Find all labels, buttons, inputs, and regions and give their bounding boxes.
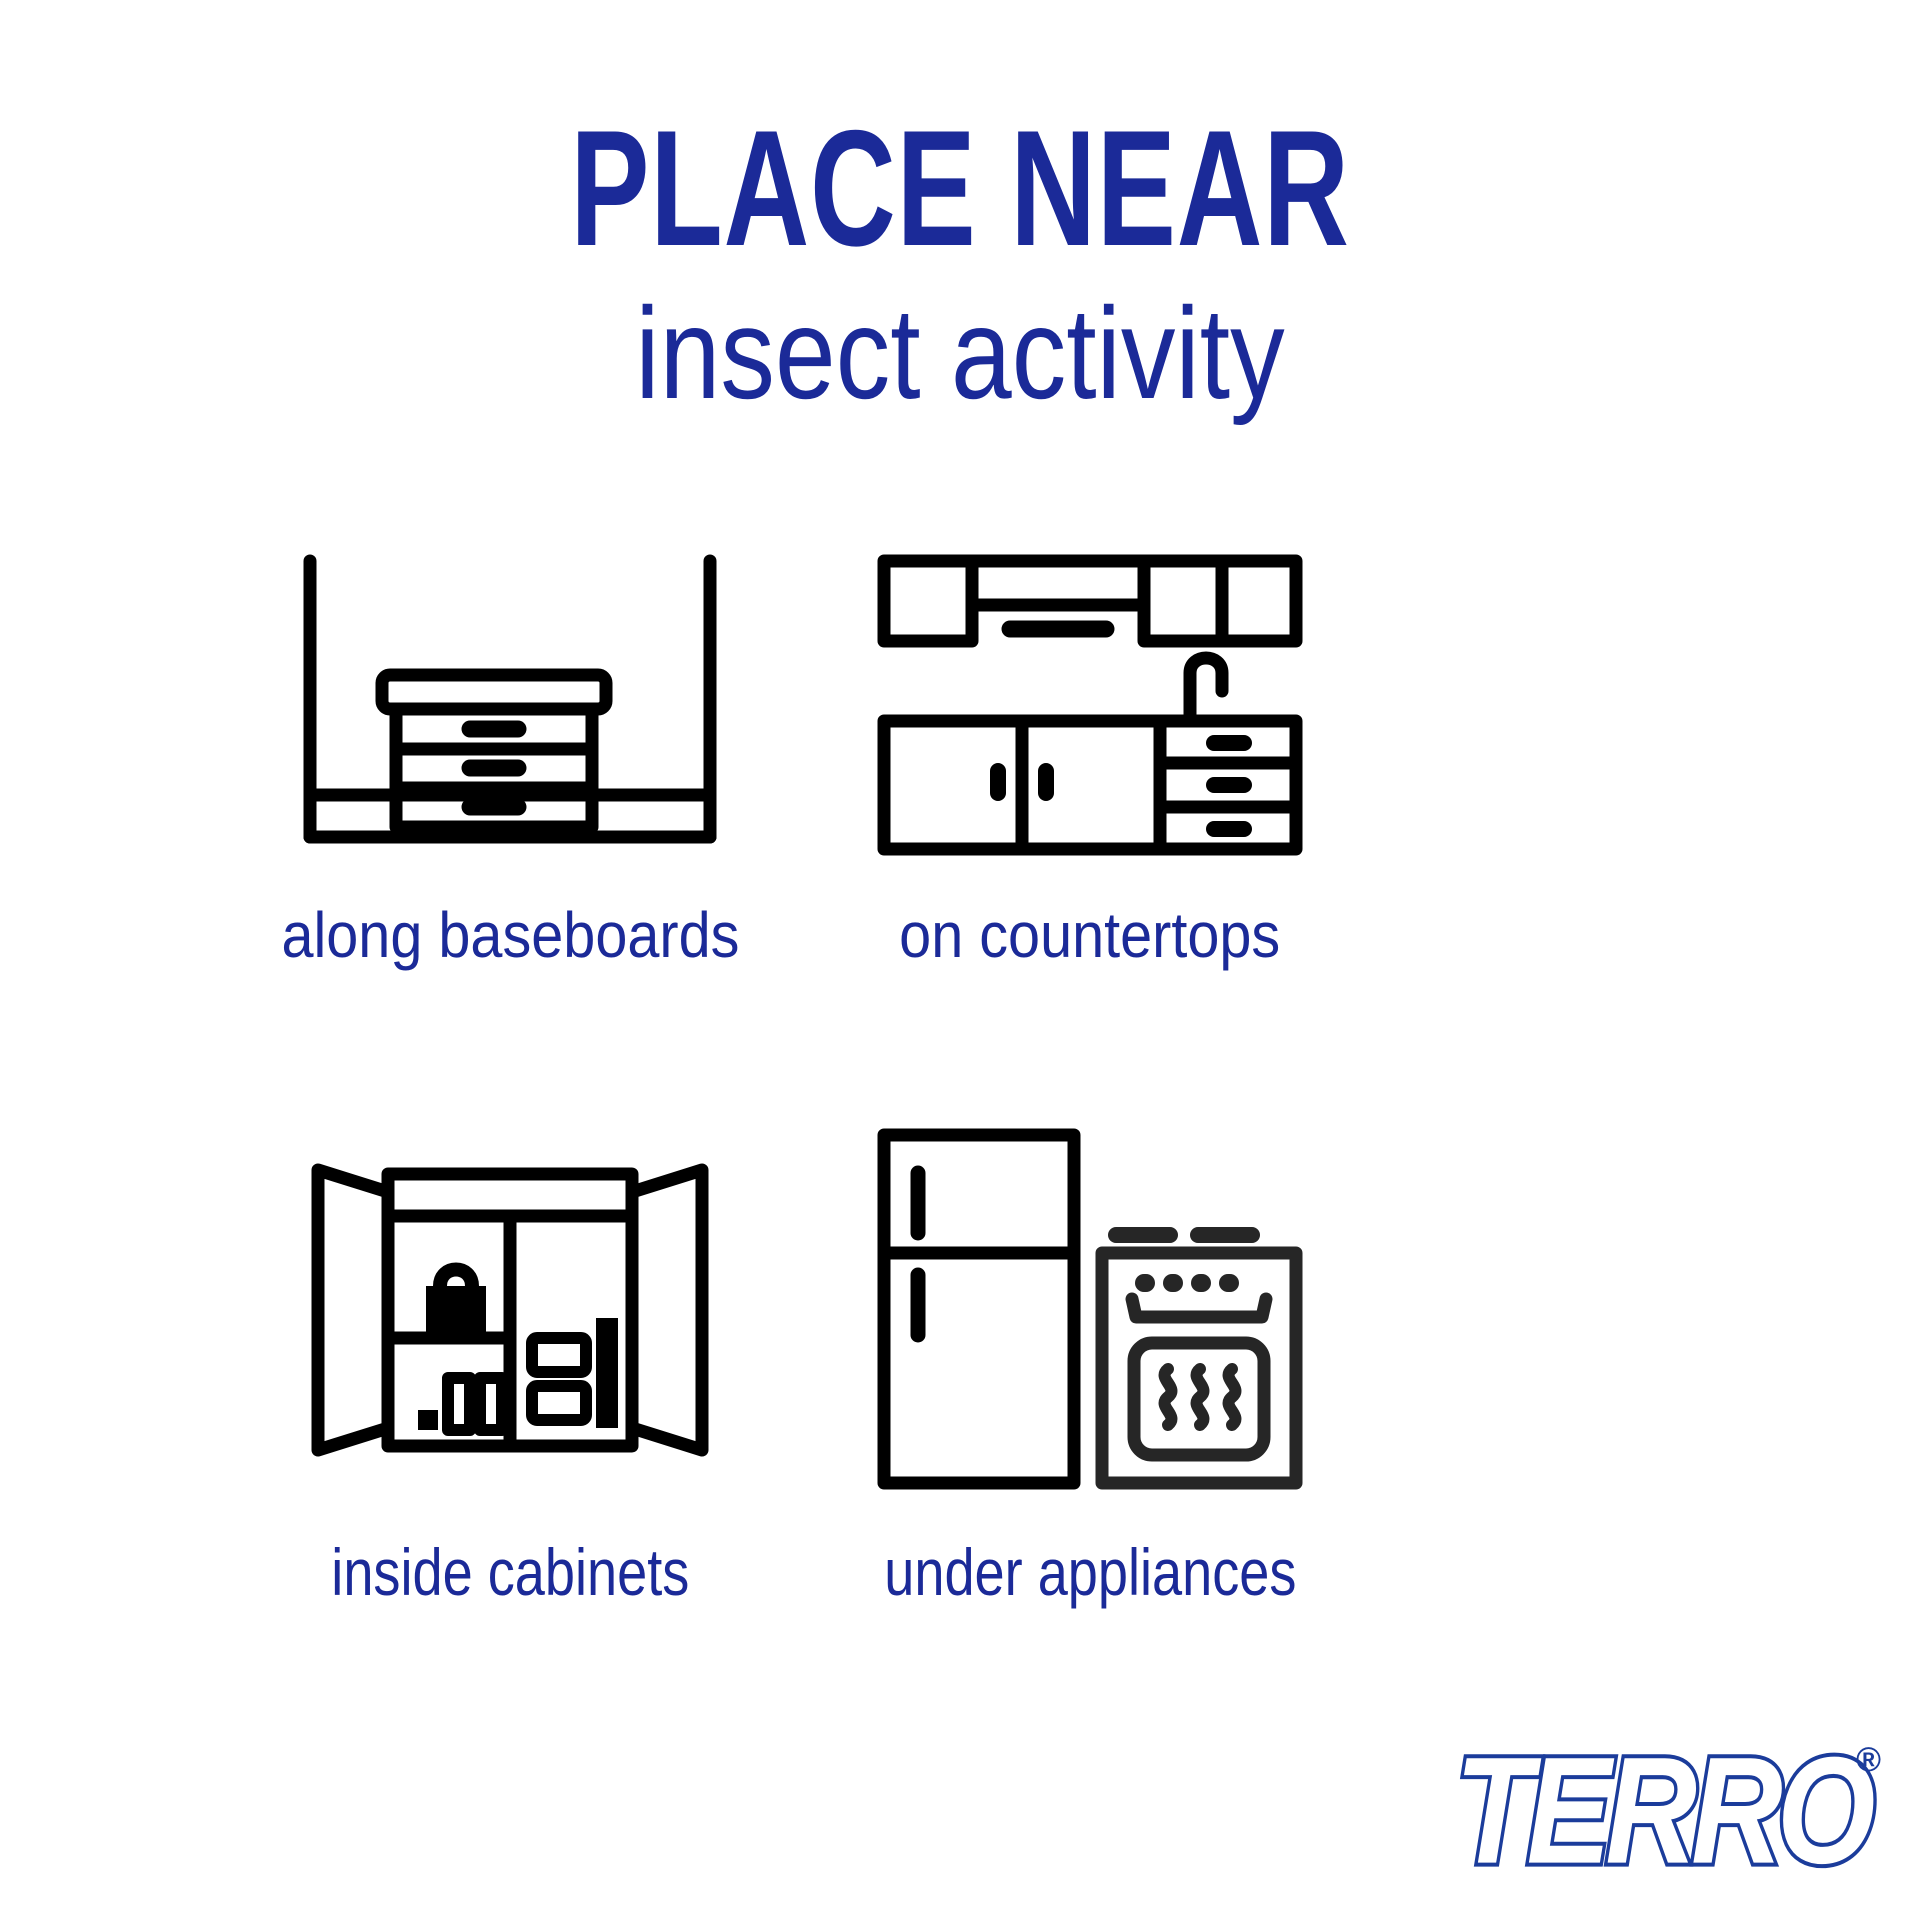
tile-countertops[interactable]: on countertops — [740, 540, 1440, 1100]
tile-label-baseboards: along baseboards — [281, 898, 739, 972]
tile-appliances[interactable]: under appliances — [740, 1120, 1440, 1680]
registered-trademark-icon: ® — [1856, 1741, 1881, 1780]
tile-label-cabinets: inside cabinets — [331, 1534, 689, 1610]
terro-wordmark: TERRO — [1455, 1735, 1870, 1887]
placement-tile-grid: along baseboards — [0, 540, 1920, 1700]
poster-canvas: PLACE NEAR insect activity — [0, 0, 1920, 1920]
terro-logo[interactable]: TERRO ® — [1455, 1735, 1875, 1885]
tile-label-countertops: on countertops — [899, 898, 1280, 972]
headline-block: PLACE NEAR insect activity — [0, 110, 1920, 421]
kitchen-counter-sink-icon — [860, 540, 1320, 870]
tile-label-appliances: under appliances — [884, 1534, 1296, 1610]
fridge-oven-icon — [860, 1120, 1320, 1500]
open-cabinet-icon — [280, 1120, 740, 1500]
baseboard-dresser-icon — [280, 540, 740, 870]
headline-secondary: insect activity — [154, 285, 1767, 422]
headline-primary: PLACE NEAR — [269, 110, 1651, 267]
